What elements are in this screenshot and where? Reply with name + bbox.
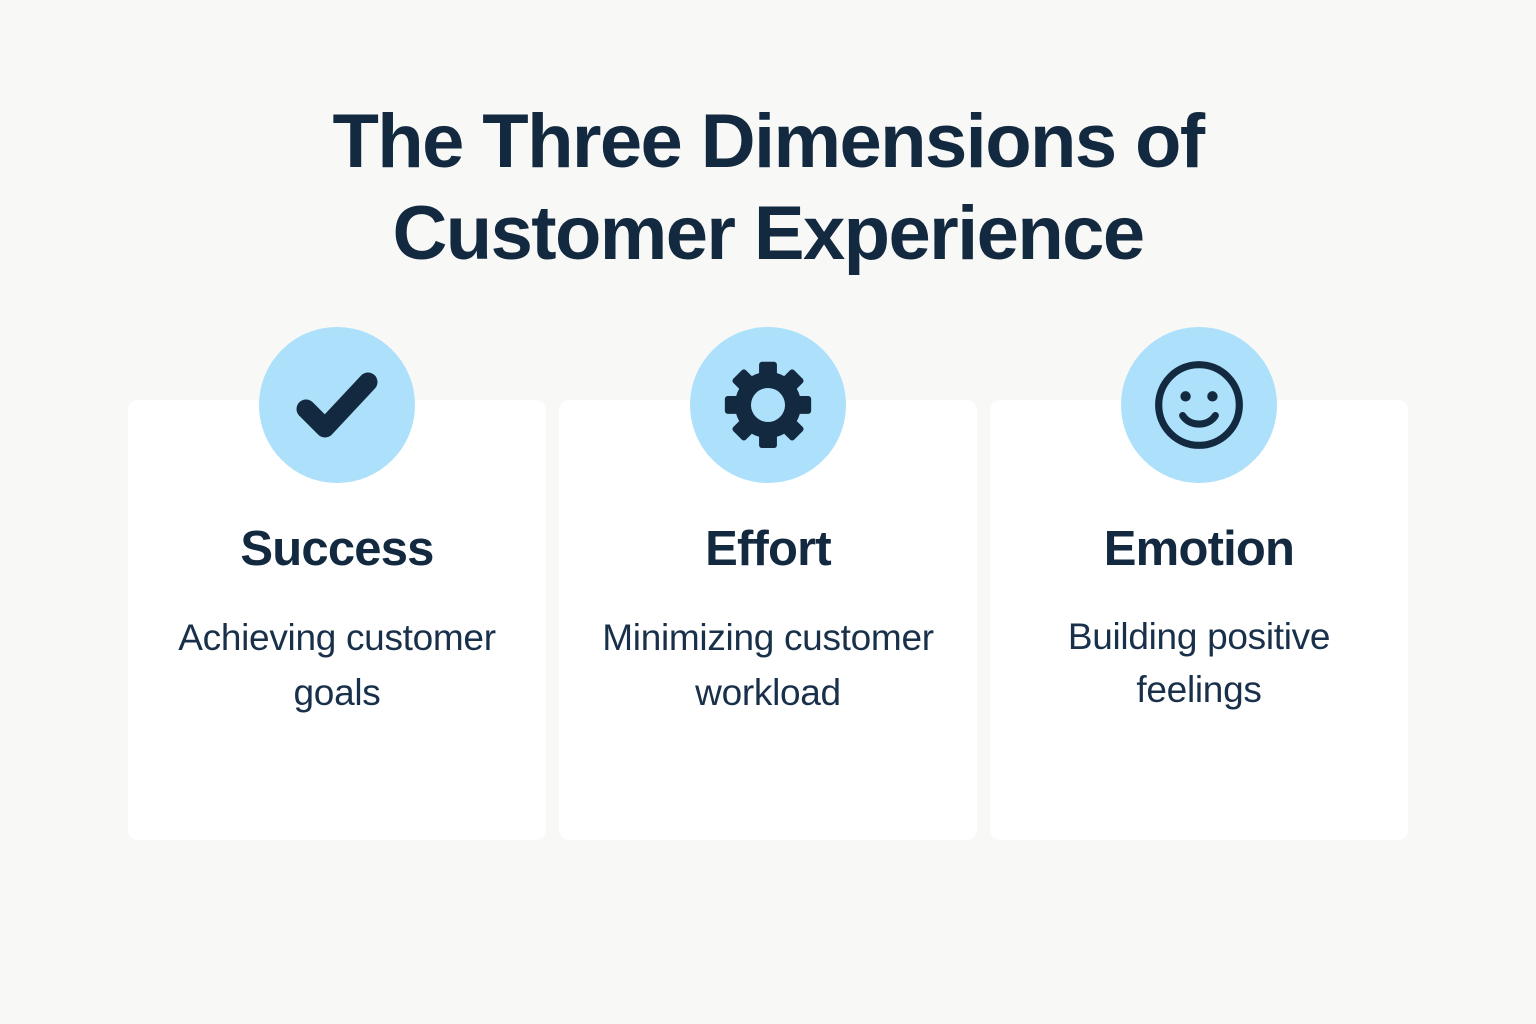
card-description-effort: Minimizing customer workload bbox=[585, 610, 951, 720]
card-body-effort: Effort Minimizing customer workload bbox=[559, 522, 977, 720]
gear-icon-badge bbox=[690, 327, 846, 483]
dimension-card-effort[interactable]: Effort Minimizing customer workload bbox=[559, 400, 977, 840]
dimension-cards-row: Success Achieving customer goals Effort … bbox=[128, 400, 1408, 840]
infographic-canvas: The Three Dimensions of Customer Experie… bbox=[0, 0, 1536, 1024]
gear-icon bbox=[722, 359, 814, 451]
card-title-effort: Effort bbox=[585, 522, 951, 576]
card-title-success: Success bbox=[154, 522, 520, 576]
page-title-line-1: The Three Dimensions of bbox=[0, 96, 1536, 188]
page-title-line-2: Customer Experience bbox=[0, 188, 1536, 280]
smiley-icon-badge bbox=[1121, 327, 1277, 483]
check-icon bbox=[294, 362, 380, 448]
smiley-icon bbox=[1151, 357, 1247, 453]
card-body-success: Success Achieving customer goals bbox=[128, 522, 546, 720]
card-title-emotion: Emotion bbox=[1016, 522, 1382, 576]
check-icon-badge bbox=[259, 327, 415, 483]
card-body-emotion: Emotion Building positive feelings bbox=[990, 522, 1408, 716]
page-title: The Three Dimensions of Customer Experie… bbox=[0, 96, 1536, 280]
card-description-emotion: Building positive feelings bbox=[1016, 610, 1382, 716]
card-description-success: Achieving customer goals bbox=[154, 610, 520, 720]
dimension-card-emotion[interactable]: Emotion Building positive feelings bbox=[990, 400, 1408, 840]
dimension-card-success[interactable]: Success Achieving customer goals bbox=[128, 400, 546, 840]
